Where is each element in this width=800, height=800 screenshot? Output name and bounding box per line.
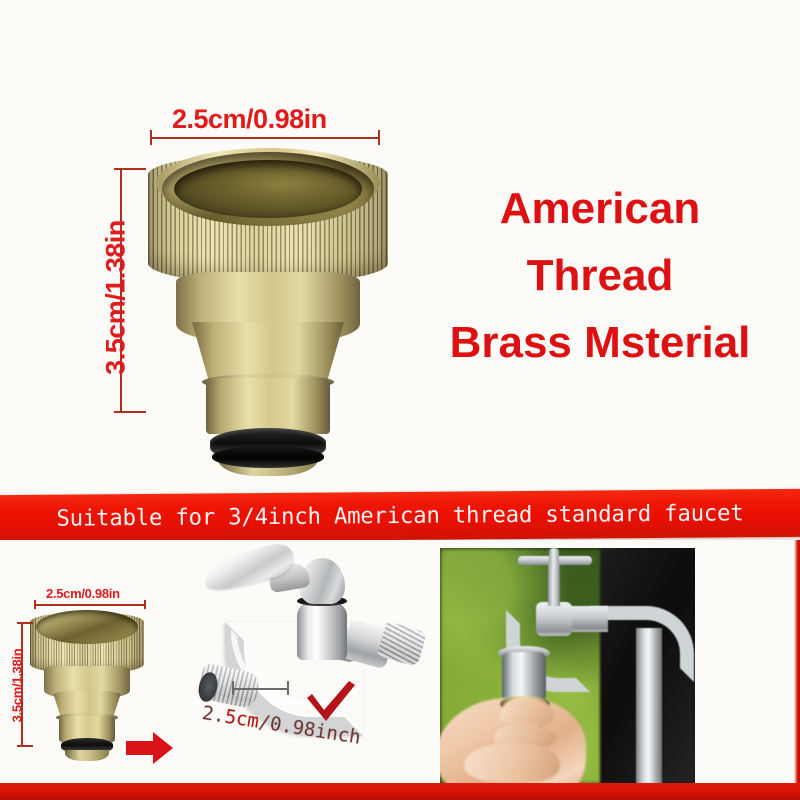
faucet-dimension-cap-right [287,681,289,695]
headline-line-3: Brass Msterial [408,310,792,377]
top-hero-section: 2.5cm/0.98in 3.5cm/1.38in American Threa… [0,0,800,492]
small-width-cap-right [144,600,146,609]
compatibility-banner: Suitable for 3/4inch American thread sta… [0,489,800,543]
photo-thumb [464,744,560,782]
small-thread-bore [44,615,130,640]
width-dimension-cap-right [378,130,380,145]
red-check-mark-icon [305,680,357,722]
right-edge-accent [794,540,800,792]
headline-line-1: American [408,176,792,243]
small-width-dimension-line [34,604,146,606]
thread-bore [174,160,362,218]
small-width-dimension-label: 2.5cm/0.98in [46,586,120,601]
usage-photo [440,548,695,784]
red-right-arrow-icon [126,730,174,766]
headline-block: American Thread Brass Msterial [408,176,792,377]
main-product-image [148,146,388,446]
faucet-body [297,602,347,660]
width-dimension-label: 2.5cm/0.98in [172,104,327,135]
product-infographic: 2.5cm/0.98in 3.5cm/1.38in American Threa… [0,0,800,800]
photo-tap-handle-vertical [549,548,559,570]
height-dimension-label: 3.5cm/1.38in [101,173,132,423]
small-height-dimension-label: 3.5cm/1.38in [10,621,25,751]
small-width-cap-left [34,600,36,609]
faucet-dimension-cap-left [232,681,234,695]
headline-line-2: Thread [408,243,792,310]
connector-barrel [206,378,330,434]
rubber-o-ring-shadow [212,446,324,468]
compatibility-banner-text: Suitable for 3/4inch American thread sta… [56,500,743,531]
bottom-accent-bar [0,783,800,800]
width-dimension-line [150,137,380,139]
width-dimension-cap-left [150,130,152,145]
height-dimension-cap-top [114,168,146,170]
faucet-dimension-line [232,688,288,690]
